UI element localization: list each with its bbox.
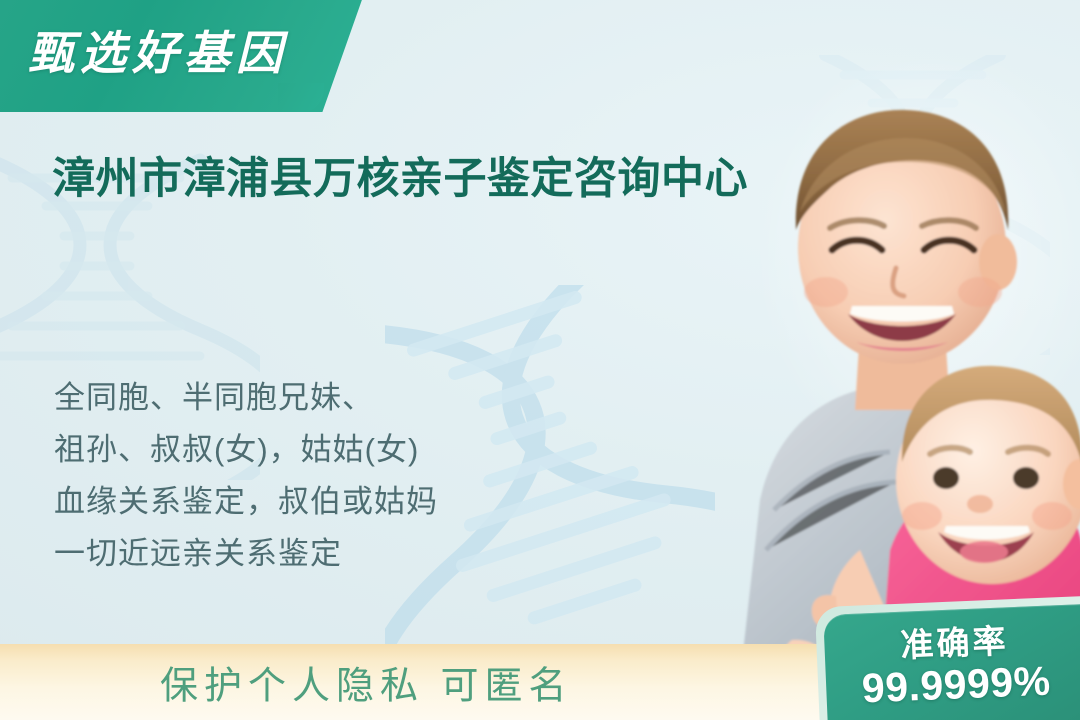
brand-banner: 甄选好基因 <box>0 0 364 112</box>
brand-logo-text: 甄选好基因 <box>28 17 288 83</box>
promo-poster: 甄选好基因 漳州市漳浦县万核亲子鉴定咨询中心 全同胞、半同胞兄妹、 祖孙、叔叔(… <box>0 0 1080 720</box>
accuracy-value: 99.9999% <box>861 659 1051 710</box>
service-line: 全同胞、半同胞兄妹、 <box>54 372 438 424</box>
service-line: 一切近远亲关系鉴定 <box>54 528 438 580</box>
accuracy-label: 准确率 <box>900 624 1009 663</box>
page-title: 漳州市漳浦县万核亲子鉴定咨询中心 <box>52 152 852 207</box>
service-line: 祖孙、叔叔(女)，姑姑(女) <box>54 424 438 476</box>
service-line: 血缘关系鉴定，叔伯或姑妈 <box>54 476 438 528</box>
badge-content: 准确率 99.9999% <box>823 604 1080 720</box>
accuracy-badge: 准确率 99.9999% <box>815 596 1080 720</box>
privacy-text: 保护个人隐私 可匿名 <box>160 655 573 710</box>
service-description: 全同胞、半同胞兄妹、 祖孙、叔叔(女)，姑姑(女) 血缘关系鉴定，叔伯或姑妈 一… <box>54 372 438 580</box>
